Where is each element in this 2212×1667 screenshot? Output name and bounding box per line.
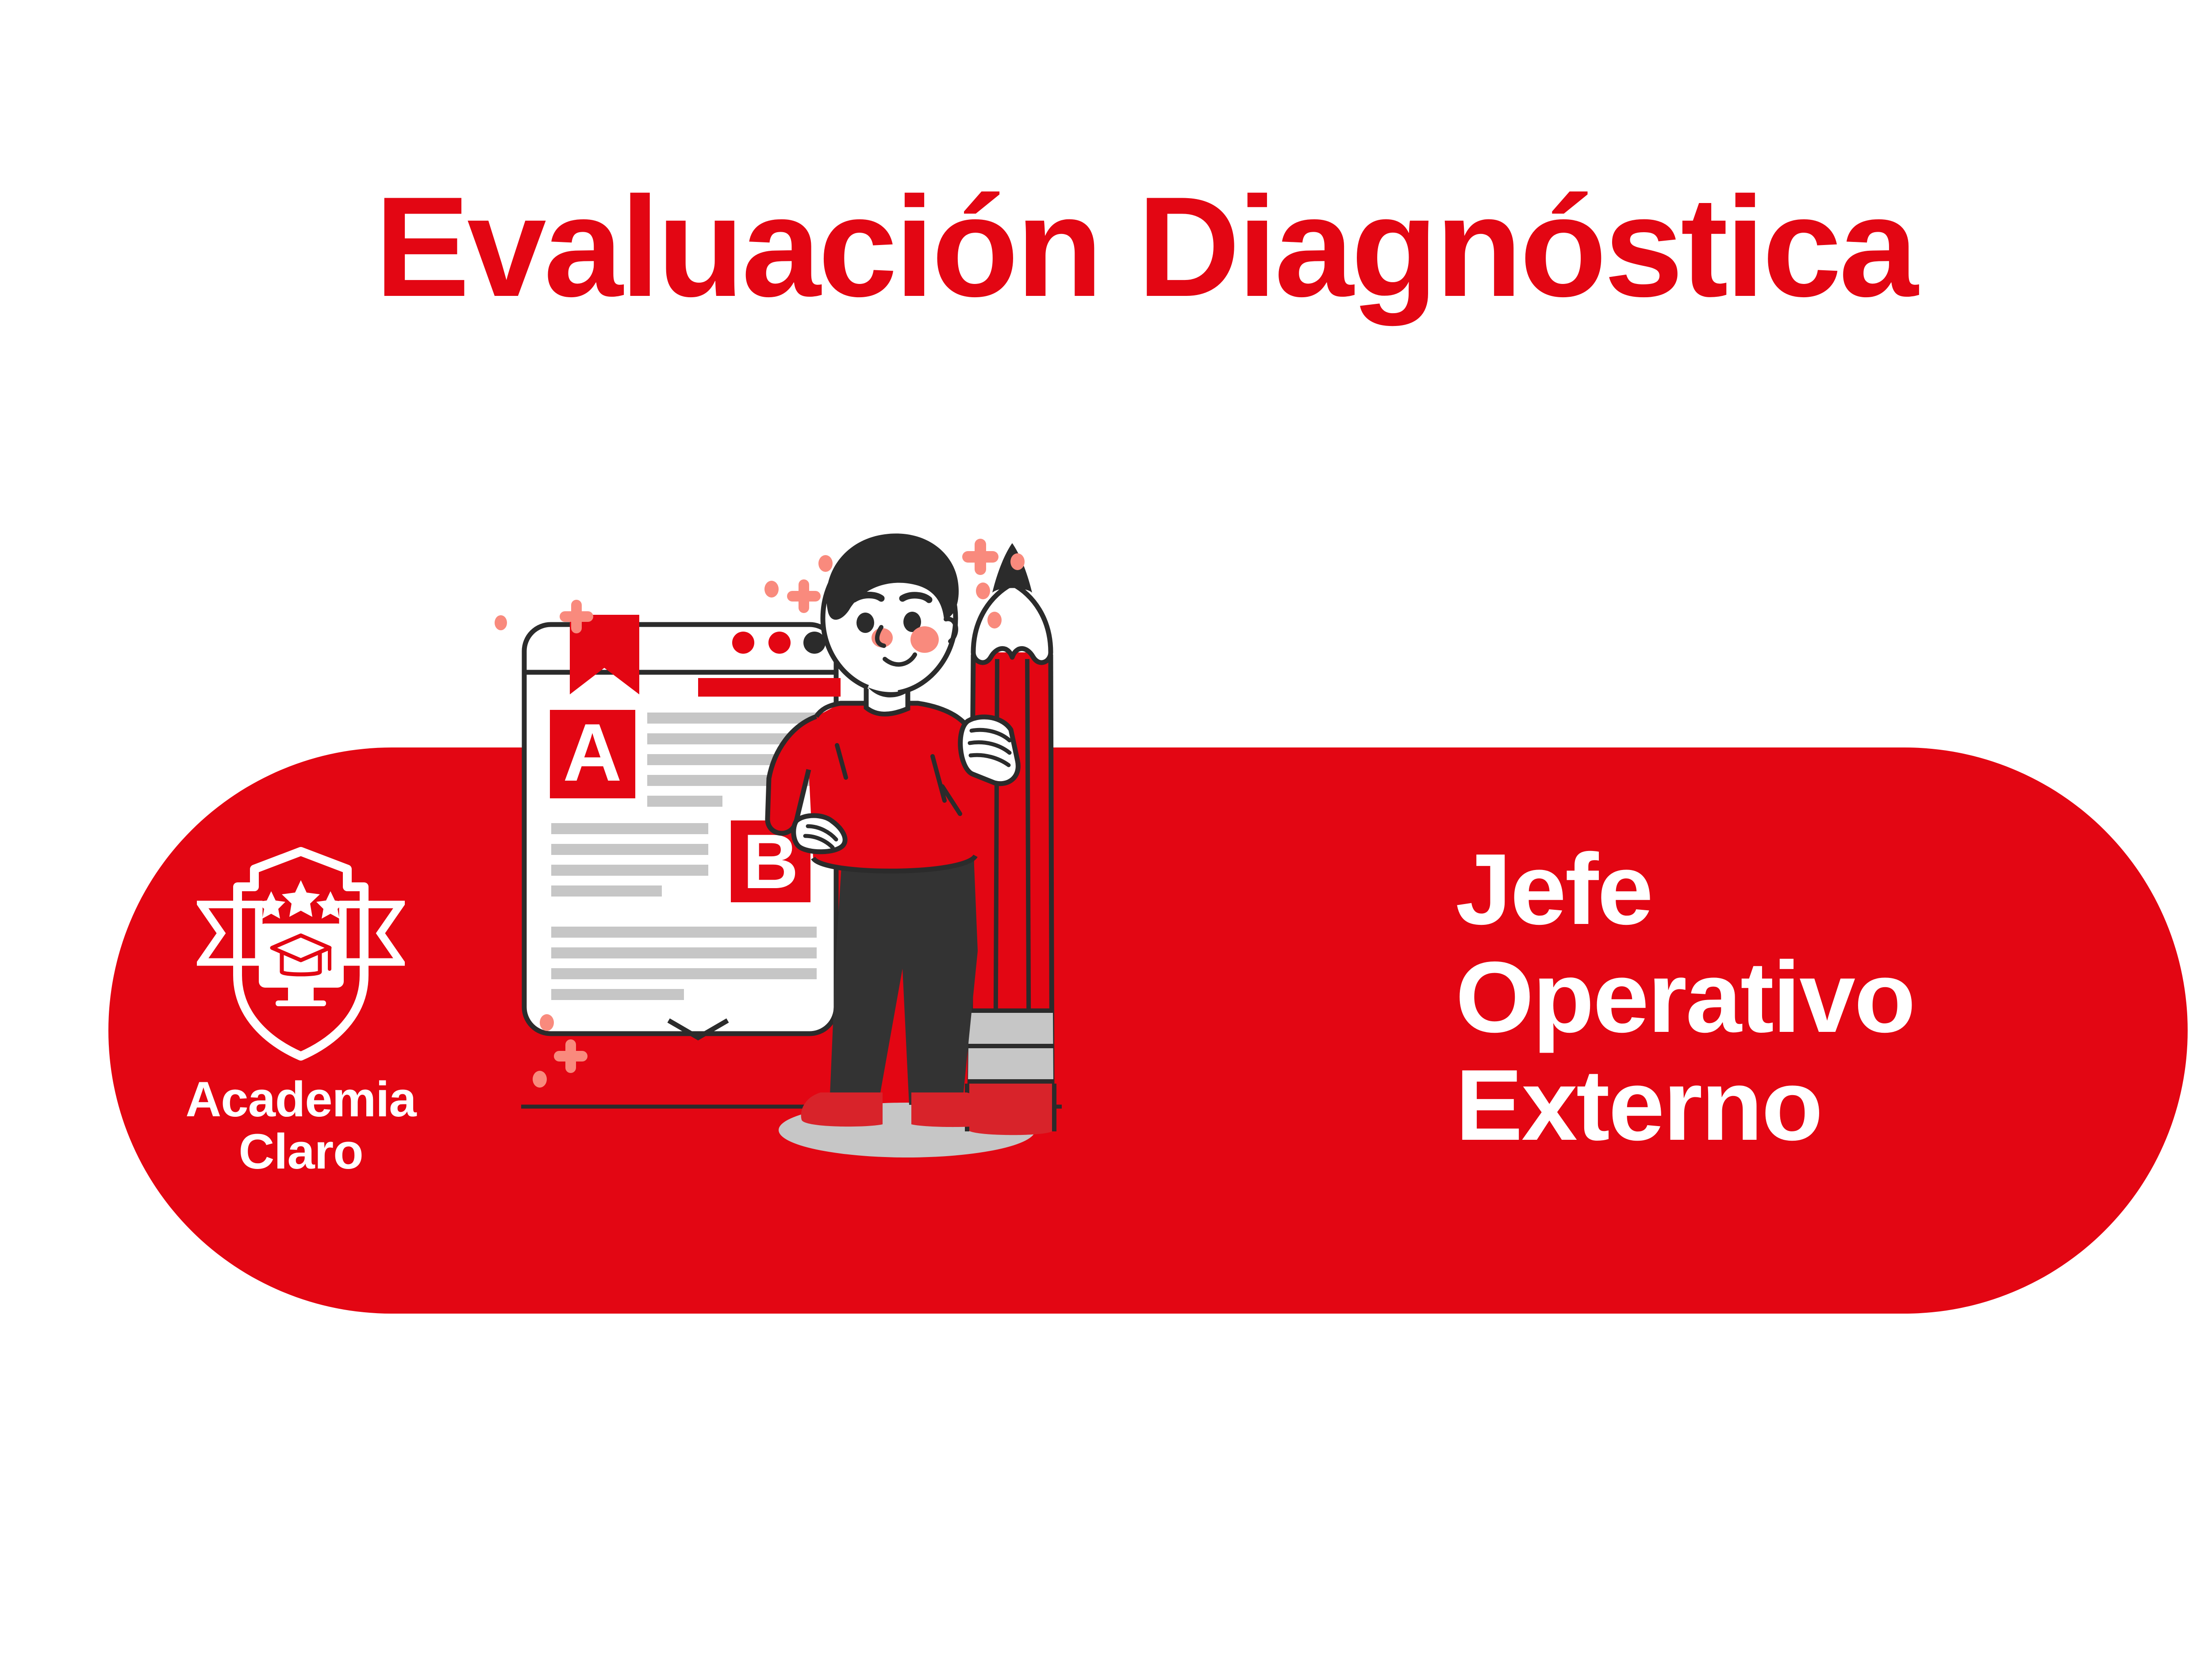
- logo-line-1: Academia: [185, 1073, 416, 1126]
- dot-sparkle-icon: [764, 581, 779, 598]
- dot-sparkle-icon: [540, 1014, 554, 1031]
- shield-graduation-monitor-logo-icon: [197, 843, 405, 1064]
- plus-sparkle-icon: [554, 1039, 588, 1073]
- dot-sparkle-icon: [976, 582, 990, 599]
- dot-sparkle-icon: [818, 555, 833, 572]
- dot-sparkle-icon: [987, 612, 1002, 628]
- role-line-3: Externo: [1455, 1052, 2119, 1160]
- academia-claro-logo: Academia Claro: [159, 843, 442, 1232]
- logo-line-2: Claro: [185, 1126, 416, 1178]
- plus-sparkle-icon: [787, 579, 821, 613]
- dot-sparkle-icon: [1010, 553, 1025, 570]
- poster-canvas: Evaluación Diagnóstica: [0, 0, 2212, 1667]
- svg-text:A: A: [563, 707, 622, 798]
- dot-sparkle-icon: [495, 615, 507, 630]
- hero-illustration: A B: [442, 509, 1504, 1659]
- giant-pencil: [967, 543, 1054, 1135]
- page-title: Evaluación Diagnóstica: [0, 172, 2212, 322]
- dot-sparkle-icon: [533, 1071, 547, 1088]
- role-line-1: Jefe: [1455, 836, 2119, 944]
- role-line-2: Operativo: [1455, 944, 2119, 1052]
- plus-sparkle-icon: [962, 539, 998, 575]
- logo-wordmark: Academia Claro: [185, 1073, 416, 1177]
- role-title: Jefe Operativo Externo: [1455, 836, 2119, 1160]
